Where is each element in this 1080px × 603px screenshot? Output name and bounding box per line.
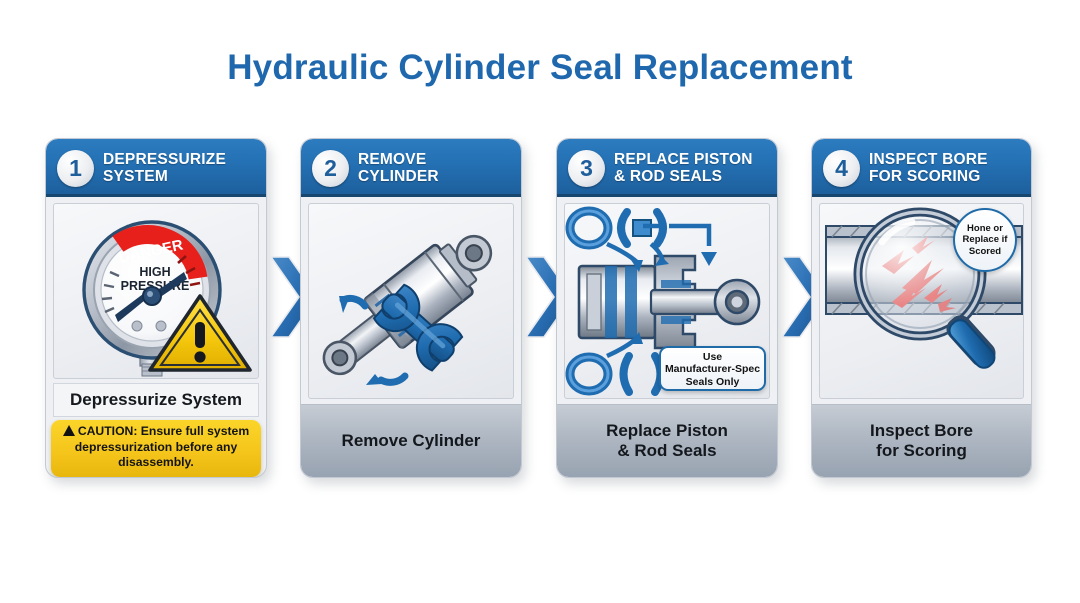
step-3-header-label: REPLACE PISTON & ROD SEALS	[614, 151, 753, 185]
step-2-header-label: REMOVE CYLINDER	[358, 151, 439, 185]
hone-replace-callout: Hone or Replace if Scored	[953, 208, 1017, 272]
step-1-header-label: DEPRESSURIZE SYSTEM	[103, 151, 226, 185]
step-card-4[interactable]: 4 INSPECT BORE FOR SCORING	[811, 138, 1032, 478]
step-2-caption: Remove Cylinder	[342, 431, 481, 451]
step-2-header: 2 REMOVE CYLINDER	[301, 139, 521, 197]
step-2-illustration	[308, 203, 514, 399]
step-1-number-badge: 1	[57, 150, 94, 187]
infographic-root: Hydraulic Cylinder Seal Replacement 1 DE…	[0, 0, 1080, 603]
pressure-gauge-icon: DANGER HIGH PRESSURE	[54, 204, 259, 379]
step-4-header-label: INSPECT BORE FOR SCORING	[869, 151, 988, 185]
step-3-footer: Replace Piston & Rod Seals	[557, 404, 777, 477]
step-2-number-badge: 2	[312, 150, 349, 187]
gauge-pressure-label-1: HIGH	[139, 265, 170, 279]
step-card-1[interactable]: 1 DEPRESSURIZE SYSTEM	[45, 138, 267, 478]
step-3-number-badge: 3	[568, 150, 605, 187]
step-3-caption: Replace Piston & Rod Seals	[606, 421, 728, 461]
step-card-2[interactable]: 2 REMOVE CYLINDER	[300, 138, 522, 478]
manufacturer-spec-callout-text: Use Manufacturer-Spec Seals Only	[661, 351, 764, 388]
cylinder-wrench-icon	[309, 204, 514, 399]
step-4-footer: Inspect Bore for Scoring	[812, 404, 1031, 477]
step-4-header: 4 INSPECT BORE FOR SCORING	[812, 139, 1031, 197]
page-title: Hydraulic Cylinder Seal Replacement	[0, 48, 1080, 88]
hone-replace-callout-text: Hone or Replace if Scored	[963, 223, 1008, 258]
step-card-3[interactable]: 3 REPLACE PISTON & ROD SEALS	[556, 138, 778, 478]
step-3-header: 3 REPLACE PISTON & ROD SEALS	[557, 139, 777, 197]
step-1-caption: Depressurize System	[53, 383, 259, 417]
step-1-illustration: DANGER HIGH PRESSURE	[53, 203, 259, 379]
rod-seal-bottom	[624, 356, 661, 392]
caution-label: CAUTION:	[78, 424, 138, 438]
step-4-caption: Inspect Bore for Scoring	[870, 421, 973, 461]
caution-triangle-icon	[63, 425, 75, 436]
o-ring-bottom	[570, 357, 608, 391]
step-1-header: 1 DEPRESSURIZE SYSTEM	[46, 139, 266, 197]
manufacturer-spec-callout: Use Manufacturer-Spec Seals Only	[659, 346, 766, 391]
caution-banner: CAUTION: Ensure full system depressuriza…	[51, 420, 261, 477]
o-ring-top	[570, 211, 608, 245]
step-2-footer: Remove Cylinder	[301, 404, 521, 477]
step-4-number-badge: 4	[823, 150, 860, 187]
